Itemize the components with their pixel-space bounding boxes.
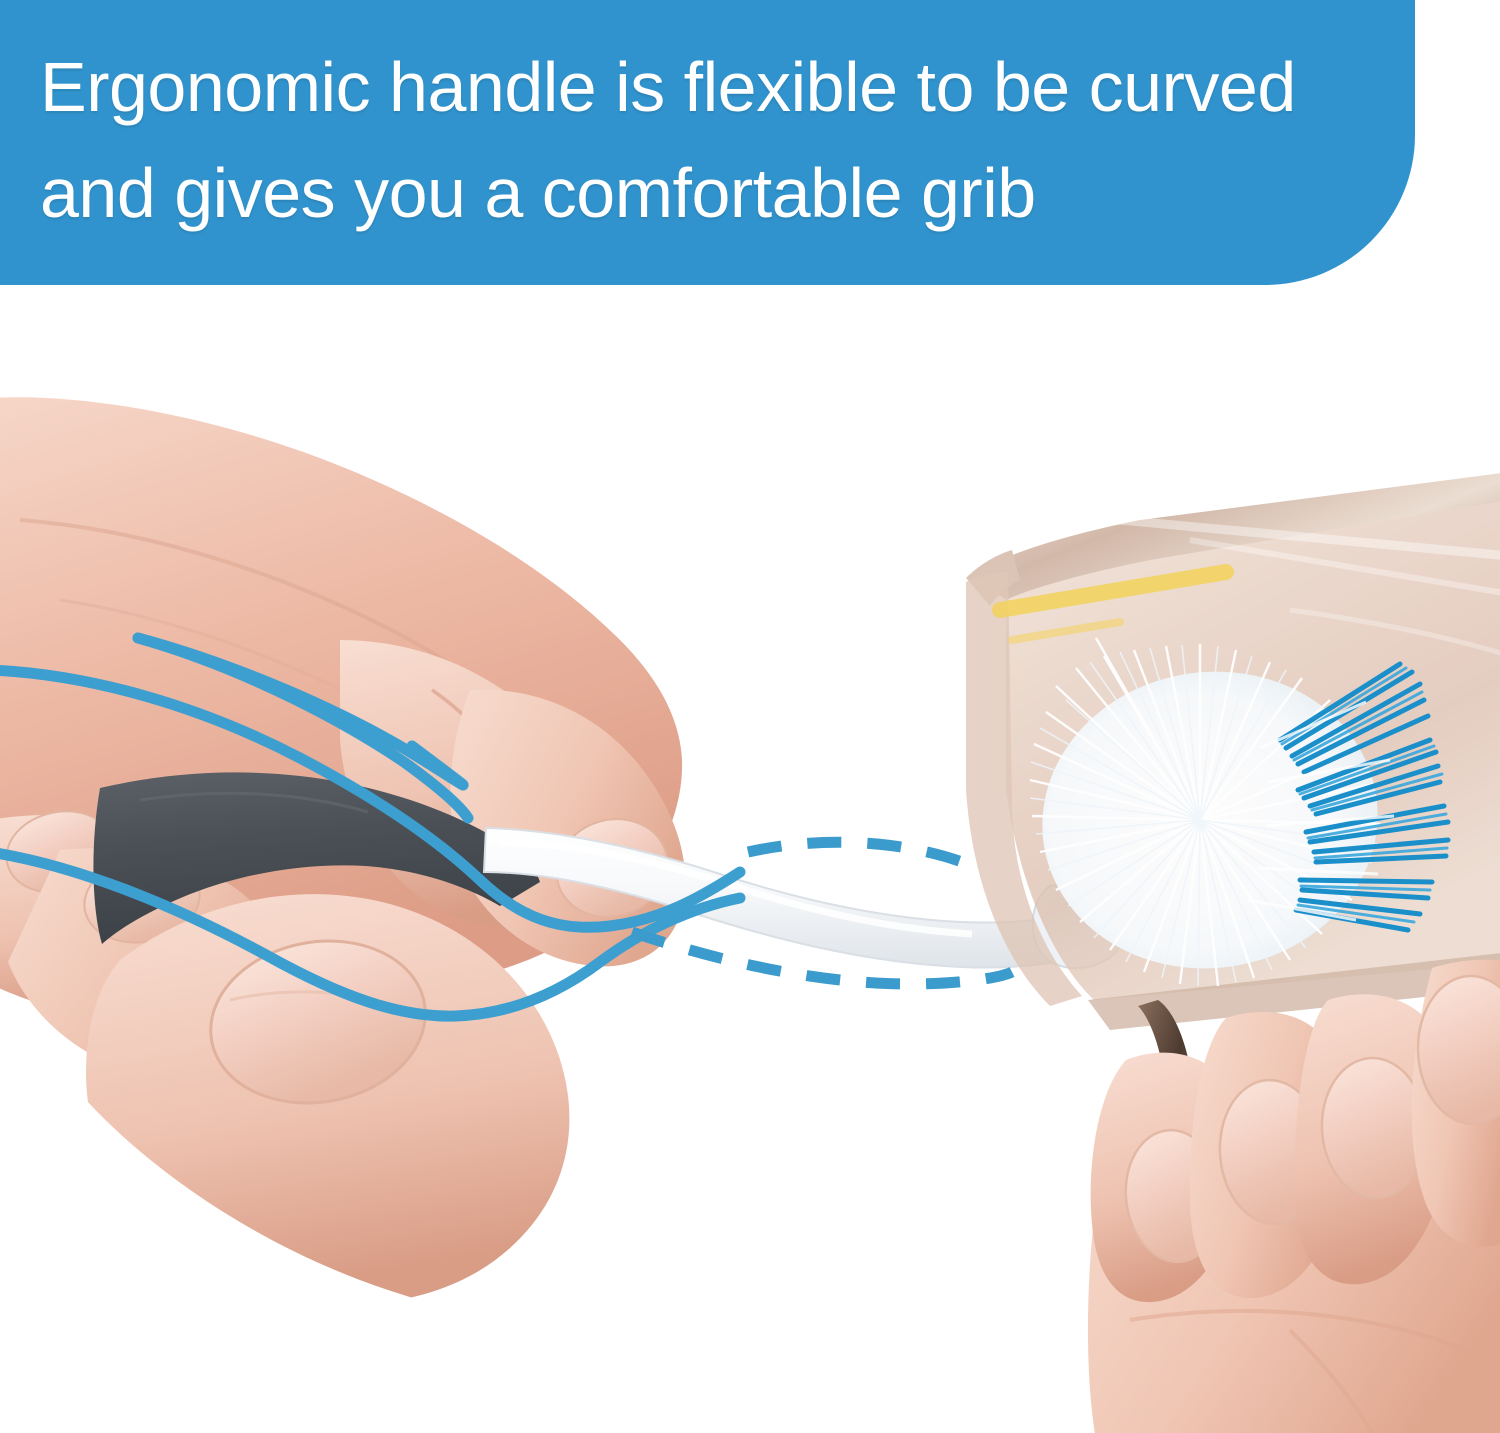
flex-arc-top [748,842,962,862]
right-hand [1088,960,1500,1433]
headline-text: Ergonomic handle is flexible to be curve… [40,34,1390,247]
product-feature-image: Ergonomic handle is flexible to be curve… [0,0,1500,1433]
headline-banner: Ergonomic handle is flexible to be curve… [0,0,1415,285]
edge-mask [0,1390,60,1433]
